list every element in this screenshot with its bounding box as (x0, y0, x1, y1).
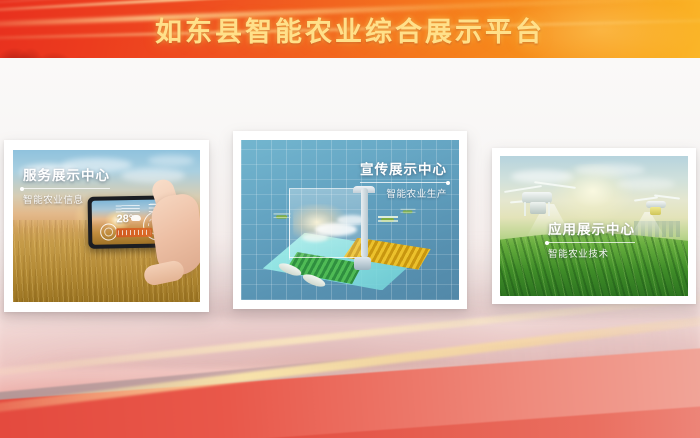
hand-finger (142, 259, 185, 287)
drone-icon-large (504, 178, 578, 218)
drone-leg (548, 202, 550, 216)
drone-rotor (654, 195, 680, 200)
card-service-image: 28° 服务展示中心 智能农业信息 (13, 150, 200, 302)
card-title-rule (360, 182, 447, 183)
page-stage: 如东县智能农业综合展示平台 28° (0, 0, 700, 438)
card-promotion-caption: 宣传展示中心 智能农业生产 (360, 158, 447, 200)
card-service-display-center[interactable]: 28° 服务展示中心 智能农业信息 (4, 140, 209, 312)
drone-tank (650, 207, 661, 215)
drone-icon (273, 213, 290, 221)
header-banner: 如东县智能农业综合展示平台 (0, 0, 700, 58)
card-title-rule (23, 188, 110, 189)
card-service-caption: 服务展示中心 智能农业信息 (23, 164, 110, 206)
card-application-caption: 应用展示中心 智能农业技术 (548, 218, 635, 260)
card-title: 服务展示中心 (23, 164, 110, 184)
drone-tank (530, 202, 546, 214)
drone-leg (524, 202, 526, 216)
card-subtitle: 智能农业技术 (548, 246, 635, 260)
drone-icon-small (634, 192, 680, 218)
hud-dial-left (100, 223, 117, 240)
lamp-base (354, 257, 371, 270)
hand-illustration (138, 177, 200, 289)
hud-ticks-left (115, 205, 139, 212)
card-title: 宣传展示中心 (360, 158, 447, 178)
card-subtitle: 智能农业信息 (23, 192, 110, 206)
drone-icon (400, 208, 415, 215)
card-title-rule (548, 242, 635, 243)
card-promotion-image: 宣传展示中心 智能农业生产 (241, 140, 459, 300)
page-title: 如东县智能农业综合展示平台 (0, 0, 700, 58)
card-application-display-center[interactable]: 应用展示中心 智能农业技术 (492, 148, 696, 304)
drone-icon (378, 215, 398, 224)
cloud-icon (148, 155, 194, 166)
card-title: 应用展示中心 (548, 218, 635, 238)
card-subtitle: 智能农业生产 (360, 186, 447, 200)
card-promotion-display-center[interactable]: 宣传展示中心 智能农业生产 (233, 131, 467, 309)
card-application-image: 应用展示中心 智能农业技术 (500, 156, 688, 296)
